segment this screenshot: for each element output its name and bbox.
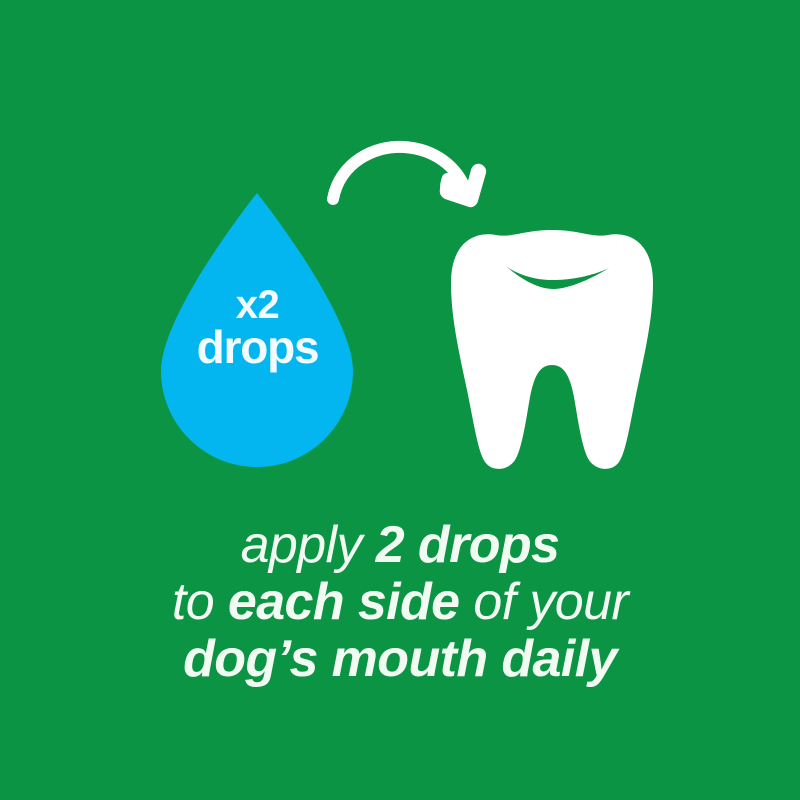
caption-line-2: to each side of your [0,574,800,631]
caption-line-1-regular: apply [241,516,376,574]
caption-line-3: dog’s mouth daily [0,631,800,688]
caption-line-1-bold: 2 drops [376,516,560,574]
graphic-illustration: x2 drops [0,0,800,500]
tooth-icon [451,230,653,469]
water-drop-icon [161,193,353,467]
instruction-graphic-canvas: x2 drops apply 2 drops to each side of y… [0,0,800,800]
caption-line-1: apply 2 drops [0,517,800,574]
caption-line-2-regular-tail: of your [460,573,629,631]
caption-line-2-bold: each side [228,573,460,631]
curved-arrow-icon [333,147,486,207]
instruction-caption: apply 2 drops to each side of your dog’s… [0,517,800,688]
caption-line-2-regular-lead: to [172,573,228,631]
caption-line-3-bold: dog’s mouth daily [183,630,617,688]
